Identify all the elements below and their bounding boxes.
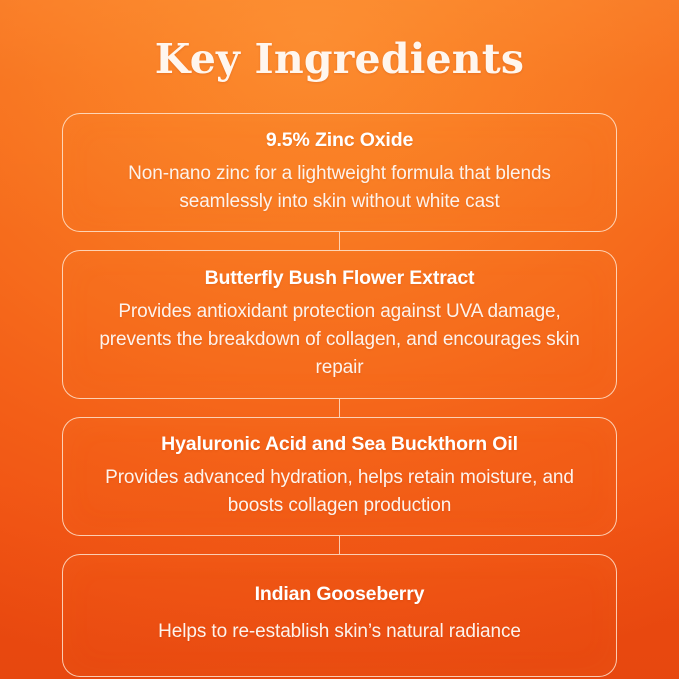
ingredient-card-title: Indian Gooseberry — [89, 581, 590, 608]
card-connector-line-2 — [62, 399, 617, 417]
page-title: Key Ingredients — [0, 34, 679, 84]
key-ingredients-infographic: Key Ingredients 9.5% Zinc Oxide Non-nano… — [0, 0, 679, 679]
ingredient-card-zinc-oxide: 9.5% Zinc Oxide Non-nano zinc for a ligh… — [62, 113, 617, 232]
ingredient-card-title: Butterfly Bush Flower Extract — [89, 265, 590, 292]
ingredient-card-title: 9.5% Zinc Oxide — [89, 127, 590, 154]
ingredient-card-hyaluronic-acid-sea-buckthorn-oil: Hyaluronic Acid and Sea Buckthorn Oil Pr… — [62, 417, 617, 536]
card-connector-line-3 — [62, 536, 617, 554]
ingredient-card-description: Helps to re-establish skin’s natural rad… — [89, 618, 590, 646]
title-container: Key Ingredients — [0, 34, 679, 84]
ingredient-card-description: Provides advanced hydration, helps retai… — [89, 464, 590, 520]
ingredient-card-title: Hyaluronic Acid and Sea Buckthorn Oil — [89, 431, 590, 458]
ingredient-card-description: Non-nano zinc for a lightweight formula … — [89, 160, 590, 216]
ingredient-card-butterfly-bush-flower-extract: Butterfly Bush Flower Extract Provides a… — [62, 250, 617, 399]
ingredient-card-stack: 9.5% Zinc Oxide Non-nano zinc for a ligh… — [62, 113, 617, 677]
ingredient-card-description: Provides antioxidant protection against … — [89, 298, 590, 382]
ingredient-card-indian-gooseberry: Indian Gooseberry Helps to re-establish … — [62, 554, 617, 677]
card-connector-line-1 — [62, 232, 617, 250]
